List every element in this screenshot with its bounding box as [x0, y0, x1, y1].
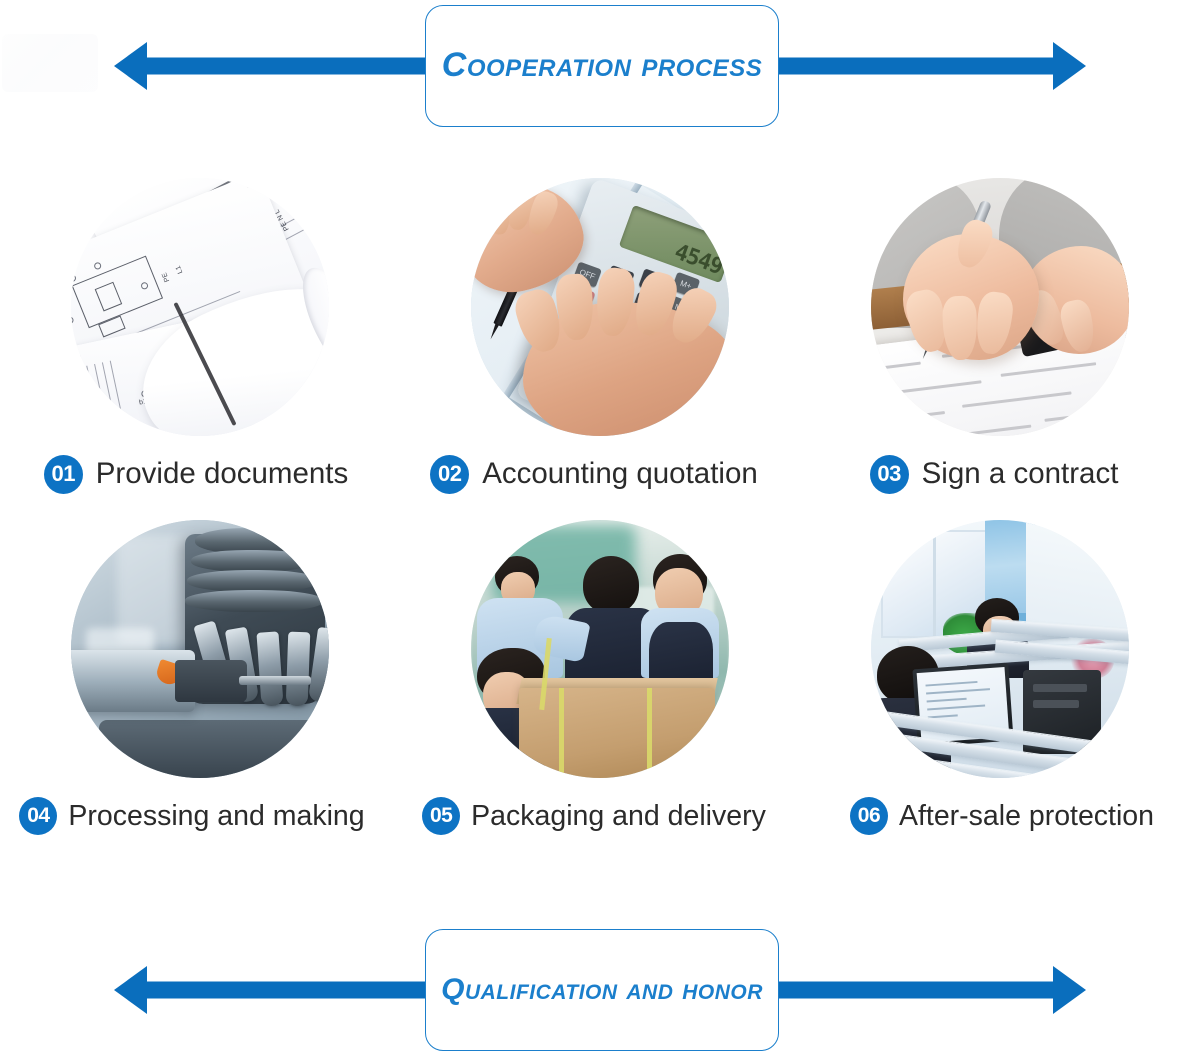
steps-row-2: 04 Processing and making: [0, 520, 1200, 862]
contract-signing-photo: [871, 178, 1129, 436]
step-05[interactable]: 05 Packaging and delivery: [400, 520, 800, 862]
bottom-banner: Qualification and honor: [0, 924, 1200, 1056]
arrow-right-icon: [736, 38, 1086, 94]
step-01-label: Provide documents: [96, 459, 349, 489]
step-04-number-badge: 04: [19, 797, 57, 835]
step-06[interactable]: 06 After-sale protection: [800, 520, 1200, 862]
step-02-caption: 02 Accounting quotation: [394, 448, 794, 500]
step-02-number-badge: 02: [430, 455, 469, 494]
packaging-photo: [471, 520, 729, 778]
step-02-image-circle: OFF CE ON 7 4 1 8 5 2 M+ M- %: [471, 178, 729, 436]
step-06-image-circle: [871, 520, 1129, 778]
arrow-left-icon: [114, 38, 464, 94]
step-06-caption: 06 After-sale protection: [802, 790, 1200, 842]
step-05-image-circle: [471, 520, 729, 778]
step-06-label: After-sale protection: [899, 802, 1154, 831]
top-banner-pill: Cooperation process: [425, 5, 779, 127]
step-04-image-circle: [71, 520, 329, 778]
bottom-banner-pill: Qualification and honor: [425, 929, 779, 1051]
step-03-caption: 03 Sign a contract: [794, 448, 1194, 500]
top-banner-title: Cooperation process: [442, 48, 762, 84]
step-04-caption: 04 Processing and making: [0, 790, 392, 842]
step-03-image-circle: [871, 178, 1129, 436]
step-01[interactable]: 60 W PE N L: [0, 178, 400, 520]
cooperation-process-infographic: Cooperation process 60: [0, 0, 1200, 1056]
step-01-image-circle: 60 W PE N L: [71, 178, 329, 436]
arrow-right-icon: [736, 962, 1086, 1018]
step-06-number-badge: 06: [850, 797, 888, 835]
step-03-number-badge: 03: [870, 455, 909, 494]
step-05-caption: 05 Packaging and delivery: [394, 790, 794, 842]
top-banner: Cooperation process: [0, 0, 1200, 132]
step-02-label: Accounting quotation: [482, 459, 758, 489]
blueprints-photo: 60 W PE N L: [71, 178, 329, 436]
steps-grid: 60 W PE N L: [0, 178, 1200, 862]
step-05-number-badge: 05: [422, 797, 460, 835]
step-03[interactable]: 03 Sign a contract: [800, 178, 1200, 520]
cnc-machining-photo: [71, 520, 329, 778]
step-03-label: Sign a contract: [922, 459, 1119, 489]
step-02[interactable]: OFF CE ON 7 4 1 8 5 2 M+ M- %: [400, 178, 800, 520]
calculator-photo: OFF CE ON 7 4 1 8 5 2 M+ M- %: [471, 178, 729, 436]
step-05-label: Packaging and delivery: [471, 802, 766, 831]
step-01-number-badge: 01: [44, 455, 83, 494]
step-04[interactable]: 04 Processing and making: [0, 520, 400, 862]
step-04-label: Processing and making: [68, 802, 364, 831]
bottom-banner-title: Qualification and honor: [441, 974, 763, 1006]
arrow-left-icon: [114, 962, 464, 1018]
office-support-photo: [871, 520, 1129, 778]
step-01-caption: 01 Provide documents: [0, 448, 396, 500]
steps-row-1: 60 W PE N L: [0, 178, 1200, 520]
